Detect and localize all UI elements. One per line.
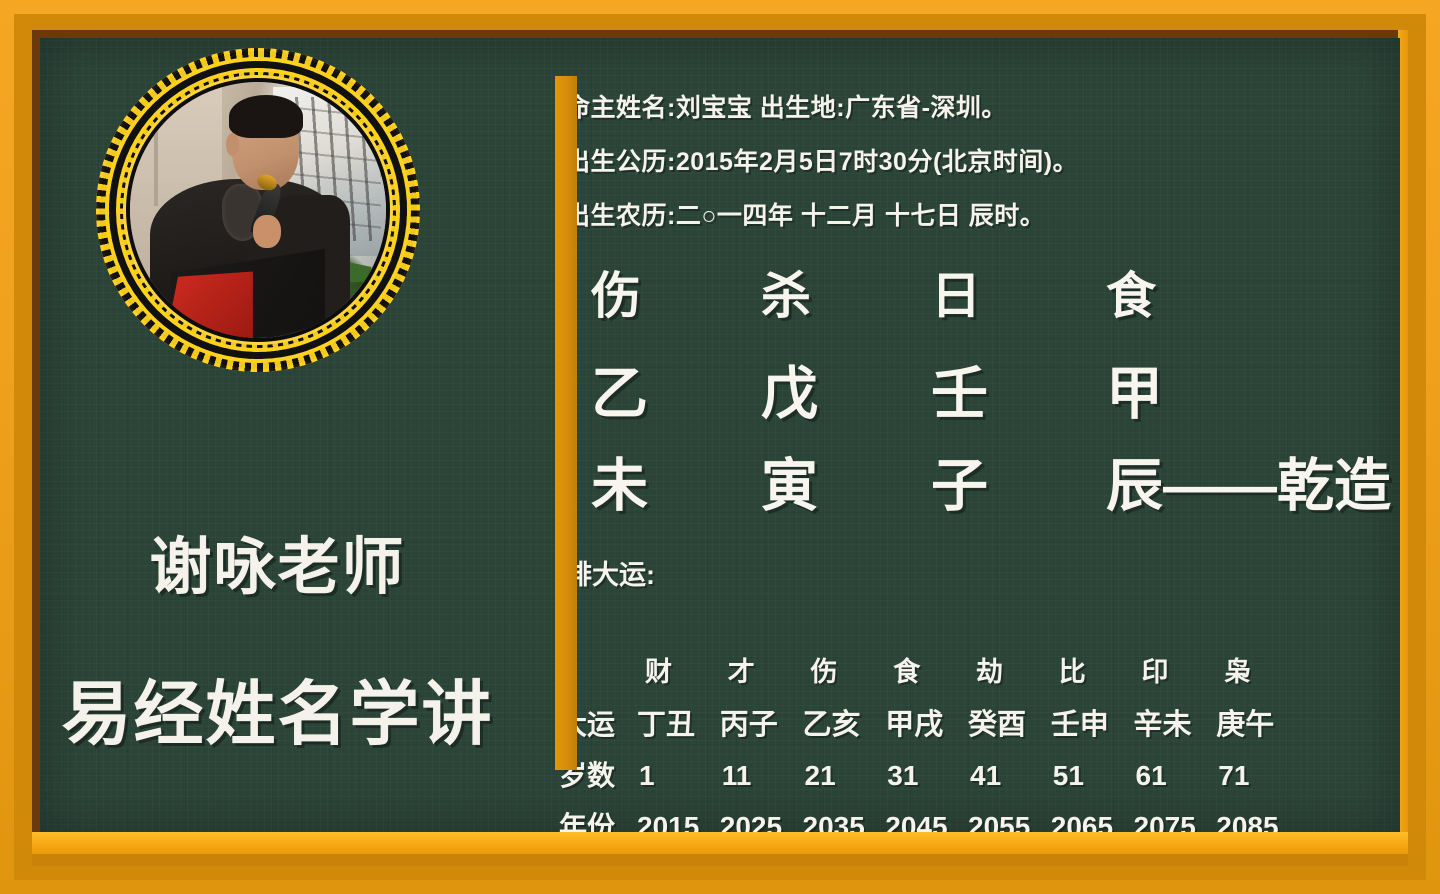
pillar-god-hour: 食 xyxy=(1106,256,1156,328)
luck-god-7: 印 xyxy=(1134,650,1217,689)
luck-age-6: 51 xyxy=(1051,760,1134,792)
luck-age-5: 41 xyxy=(968,760,1051,792)
luck-head-year: 年份 xyxy=(559,805,637,832)
luck-god-8: 枭 xyxy=(1216,650,1299,689)
luck-age-1: 1 xyxy=(637,760,720,792)
luck-cycle-heading: 排大运: xyxy=(565,553,655,592)
pillar-branch-year: 未 xyxy=(591,440,648,522)
luck-year-4: 2045 xyxy=(885,811,968,832)
luck-row-dayun: 大运 丁丑 丙子 乙亥 甲戌 癸酉 壬申 辛未 庚午 xyxy=(559,701,1299,743)
chalkboard-frame: 谢咏老师 易经姓名学讲 命主姓名:刘宝宝 出生地:广东省-深圳。 出生公历:20… xyxy=(0,0,1440,894)
luck-age-2: 11 xyxy=(720,760,803,792)
chalkboard-surface: 谢咏老师 易经姓名学讲 命主姓名:刘宝宝 出生地:广东省-深圳。 出生公历:20… xyxy=(40,38,1400,832)
luck-year-8: 2085 xyxy=(1216,811,1299,832)
photo-ear xyxy=(226,133,239,156)
avatar xyxy=(130,82,386,338)
luck-row-year: 年份 2015 2025 2035 2045 2055 2065 2075 20… xyxy=(559,805,1299,832)
solar-birth-datetime: 出生公历:2015年2月5日7时30分(北京时间)。 xyxy=(565,142,1078,178)
pillar-stem-hour: 甲 xyxy=(1106,348,1163,430)
board-ledge xyxy=(32,832,1408,854)
luck-dayun-4: 甲戌 xyxy=(885,701,968,743)
pillar-branch-month: 寅 xyxy=(761,440,818,522)
luck-year-1: 2015 xyxy=(637,811,720,832)
luck-god-1: 财 xyxy=(637,650,720,689)
pillars-ten-gods-row: 伤 杀 日 食 xyxy=(561,256,1371,348)
luck-age-8: 71 xyxy=(1216,760,1299,792)
teacher-name: 谢咏老师 xyxy=(40,516,515,606)
luck-year-3: 2035 xyxy=(803,811,886,832)
luck-dayun-7: 辛未 xyxy=(1134,701,1217,743)
photo-podium-banner xyxy=(166,271,253,338)
pillar-god-day: 日 xyxy=(931,256,981,328)
luck-year-7: 2075 xyxy=(1134,811,1217,832)
pillar-stem-year: 乙 xyxy=(591,348,648,430)
pillar-branch-hour: 辰——乾造 xyxy=(1106,440,1391,522)
luck-age-4: 31 xyxy=(885,760,968,792)
luck-god-4: 食 xyxy=(885,650,968,689)
luck-dayun-6: 壬申 xyxy=(1051,701,1134,743)
right-panel: 命主姓名:刘宝宝 出生地:广东省-深圳。 出生公历:2015年2月5日7时30分… xyxy=(537,38,1400,832)
lunar-birth-datetime: 出生农历:二○一四年 十二月 十七日 辰时。 xyxy=(565,196,1045,232)
luck-year-5: 2055 xyxy=(968,811,1051,832)
pillar-stem-day: 壬 xyxy=(931,348,988,430)
luck-dayun-3: 乙亥 xyxy=(803,701,886,743)
photo-hand xyxy=(253,215,281,248)
luck-dayun-8: 庚午 xyxy=(1216,701,1299,743)
luck-row-ten-gods: 十神 财 才 伤 食 劫 比 印 枭 xyxy=(559,650,1299,690)
portrait-frame xyxy=(96,48,420,372)
pillars-earthly-branches-row: 未 寅 子 辰——乾造 xyxy=(561,440,1371,532)
luck-row-age: 岁数 1 11 21 31 41 51 61 71 xyxy=(559,754,1299,794)
luck-year-2: 2025 xyxy=(720,811,803,832)
luck-god-5: 劫 xyxy=(968,650,1051,689)
luck-year-6: 2065 xyxy=(1051,811,1134,832)
pillar-branch-day: 子 xyxy=(931,440,988,522)
panel-divider xyxy=(555,76,577,770)
luck-god-6: 比 xyxy=(1051,650,1134,689)
pillar-god-month: 杀 xyxy=(761,256,811,328)
luck-dayun-2: 丙子 xyxy=(720,701,803,743)
luck-cycle-table: 十神 财 才 伤 食 劫 比 印 枭 大运 丁丑 xyxy=(559,650,1299,832)
course-title: 易经姓名学讲 xyxy=(40,658,515,759)
pillar-god-year: 伤 xyxy=(591,256,641,328)
luck-age-3: 21 xyxy=(803,760,886,792)
luck-dayun-5: 癸酉 xyxy=(968,701,1051,743)
pillar-stem-month: 戊 xyxy=(761,348,818,430)
four-pillars-chart: 伤 杀 日 食 乙 戊 壬 甲 未 寅 子 辰——乾造 xyxy=(561,256,1371,532)
luck-god-3: 伤 xyxy=(803,650,886,689)
left-panel: 谢咏老师 易经姓名学讲 xyxy=(40,38,515,832)
luck-age-7: 61 xyxy=(1134,760,1217,792)
photo-hair xyxy=(229,95,303,139)
photo-wall-seam xyxy=(154,82,158,206)
subject-name-and-birthplace: 命主姓名:刘宝宝 出生地:广东省-深圳。 xyxy=(565,88,1007,124)
pillars-heavenly-stems-row: 乙 戊 壬 甲 xyxy=(561,348,1371,440)
board-ledge-shadow xyxy=(32,852,1408,866)
luck-dayun-1: 丁丑 xyxy=(637,701,720,743)
luck-god-2: 才 xyxy=(720,650,803,689)
